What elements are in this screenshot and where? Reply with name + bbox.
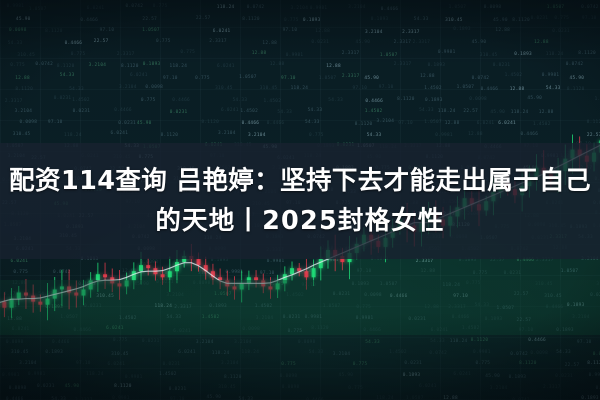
candle-up: [132, 271, 136, 280]
candle-up: [46, 299, 50, 305]
candle-up: [276, 283, 280, 289]
candle-down: [24, 293, 28, 296]
candle-up: [312, 268, 316, 277]
candle-up: [168, 271, 172, 277]
candle-down: [2, 302, 6, 308]
candle-down: [103, 274, 107, 277]
candle-up: [139, 265, 143, 271]
candle-up: [319, 259, 323, 268]
candle-up: [60, 286, 64, 289]
candle-down: [304, 271, 308, 277]
candle-down: [161, 274, 165, 277]
candle-down: [197, 259, 201, 265]
candle-up: [17, 293, 21, 299]
candle-up: [283, 274, 287, 283]
candle-down: [146, 265, 150, 268]
candle-up: [81, 289, 85, 295]
candle-up: [125, 280, 129, 286]
candle-up: [175, 262, 179, 271]
headline-line-1: 配资114查询 吕艳婷：坚持下去才能走出属于自己: [9, 161, 591, 201]
candle-down: [38, 302, 42, 305]
candle-down: [117, 283, 121, 286]
candle-down: [254, 277, 258, 280]
candle-up: [290, 268, 294, 274]
candle-down: [74, 293, 78, 296]
candle-down: [268, 286, 272, 289]
candle-up: [240, 283, 244, 289]
candle-up: [89, 280, 93, 289]
headline-band: 配资114查询 吕艳婷：坚持下去才能走出属于自己 的天地丨2025封格女性: [0, 143, 600, 259]
headline-line-2: 的天地丨2025封格女性: [155, 201, 444, 241]
screenshot-canvas: 0.99811.05076.02410.07420.775118.240.074…: [0, 0, 600, 400]
candle-up: [247, 277, 251, 283]
candle-down: [233, 286, 237, 289]
candle-up: [96, 274, 100, 280]
